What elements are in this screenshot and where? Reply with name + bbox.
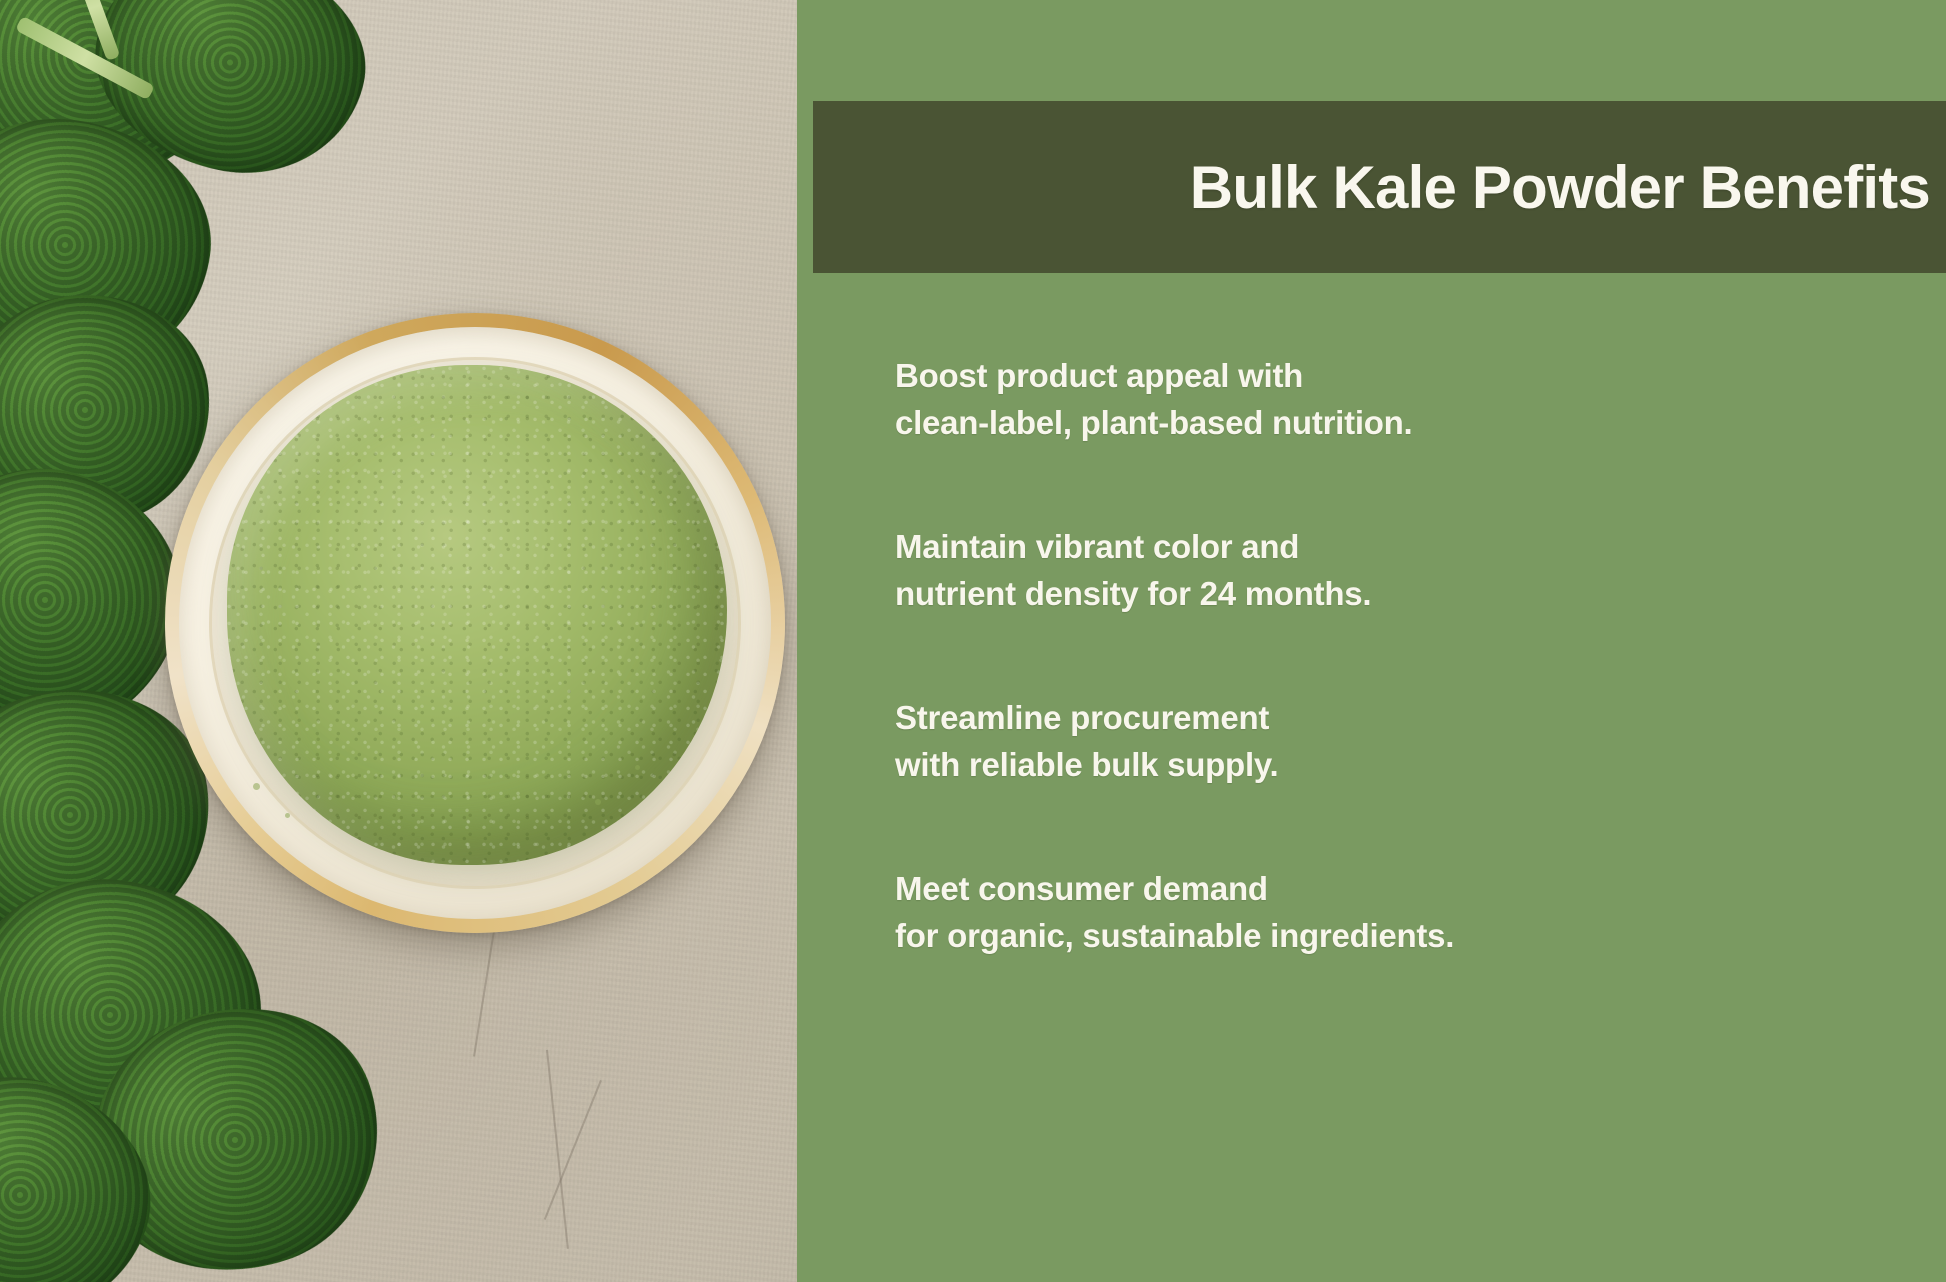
powder-scatter [253, 783, 260, 790]
benefits-panel: Bulk Kale Powder Benefits Boost product … [797, 0, 1946, 1282]
powder-scatter [285, 813, 290, 818]
powder-texture [227, 365, 727, 865]
title-band: Bulk Kale Powder Benefits [813, 101, 1946, 273]
benefit-item: Meet consumer demand for organic, sustai… [895, 865, 1935, 959]
powder-scatter [635, 765, 640, 770]
product-photo [0, 0, 797, 1282]
benefit-item: Streamline procurement with reliable bul… [895, 694, 1935, 788]
poster-canvas: Bulk Kale Powder Benefits Boost product … [0, 0, 1946, 1282]
page-title: Bulk Kale Powder Benefits [1190, 156, 1930, 219]
benefit-line-1: Streamline procurement [895, 694, 1935, 741]
benefit-line-2: for organic, sustainable ingredients. [895, 912, 1935, 959]
benefit-line-2: clean-label, plant-based nutrition. [895, 399, 1935, 446]
powder-scatter [595, 799, 601, 805]
benefit-line-1: Meet consumer demand [895, 865, 1935, 912]
kale-powder-mound [227, 365, 727, 865]
benefit-line-1: Maintain vibrant color and [895, 523, 1935, 570]
benefit-item: Boost product appeal with clean-label, p… [895, 352, 1935, 446]
benefit-line-2: with reliable bulk supply. [895, 741, 1935, 788]
benefit-item: Maintain vibrant color and nutrient dens… [895, 523, 1935, 617]
ceramic-bowl [165, 313, 785, 933]
benefits-list: Boost product appeal with clean-label, p… [895, 352, 1935, 959]
benefit-line-2: nutrient density for 24 months. [895, 570, 1935, 617]
benefit-line-1: Boost product appeal with [895, 352, 1935, 399]
